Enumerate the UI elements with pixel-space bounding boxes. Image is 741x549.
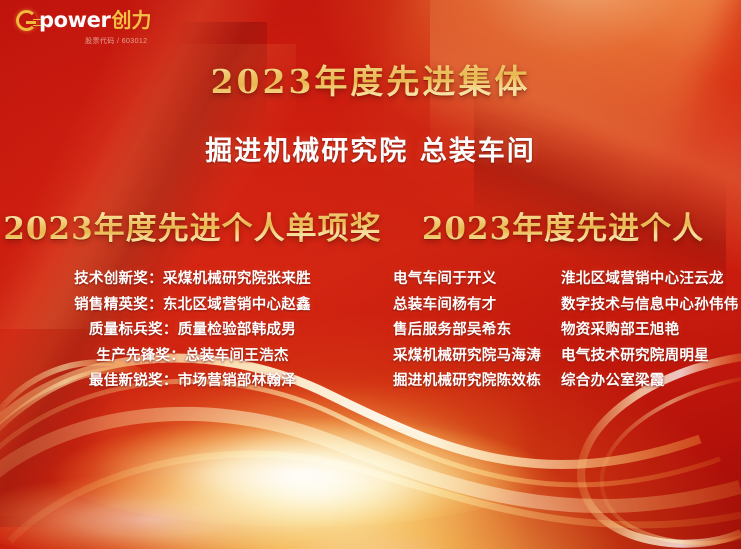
section-individual-special-awards: 2023年度先进个人单项奖 技术创新奖：采煤机械研究院张来胜 销售精英奖：东北区… [0,212,385,392]
section-advanced-individuals: 2023年度先进个人 电气车间于开义 淮北区域营销中心汪云龙 总装车间杨有才 数… [385,212,741,392]
list-item: 最佳新锐奖：市场营销部林翰泽 [89,370,296,392]
list-item: 总装车间杨有才 数字技术与信息中心孙伟伟 [393,294,741,316]
recipient-left: 掘进机械研究院陈效栋 [393,370,561,392]
section-heading: 2023年度先进个人单项奖 [0,212,385,246]
recipient-right: 数字技术与信息中心孙伟伟 [561,294,741,316]
center-glow-decoration [101,389,521,549]
award-sections: 2023年度先进个人单项奖 技术创新奖：采煤机械研究院张来胜 销售精英奖：东北区… [0,212,741,392]
recipient-right: 物资采购部王旭艳 [561,319,741,341]
recipient-left: 电气车间于开义 [393,268,561,290]
section-heading: 2023年度先进个人 [385,212,741,246]
award-list: 技术创新奖：采煤机械研究院张来胜 销售精英奖：东北区域营销中心赵鑫 质量标兵奖：… [0,268,385,392]
recipient-left: 售后服务部吴希东 [393,319,561,341]
list-item: 生产先锋奖：总装车间王浩杰 [96,345,288,367]
page-subtitle: 掘进机械研究院 总装车间 [0,137,741,167]
list-item: 采煤机械研究院马海涛 电气技术研究院周明星 [393,345,741,367]
list-item: 质量标兵奖：质量检验部韩成男 [89,319,296,341]
logo-row: power 创力 [16,10,151,31]
list-item: 技术创新奖：采煤机械研究院张来胜 [74,268,311,290]
list-item: 销售精英奖：东北区域营销中心赵鑫 [74,294,311,316]
list-item: 售后服务部吴希东 物资采购部王旭艳 [393,319,741,341]
list-item: 掘进机械研究院陈效栋 综合办公室梁霞 [393,370,741,392]
recipient-right: 淮北区域营销中心汪云龙 [561,268,741,290]
recipient-right: 综合办公室梁霞 [561,370,741,392]
stock-code-label: 股票代码 / 603012 [16,36,151,46]
award-slide: power 创力 股票代码 / 603012 2023年度先进集体 掘进机械研究… [0,0,741,549]
recipient-left: 总装车间杨有才 [393,294,561,316]
list-item: 电气车间于开义 淮北区域营销中心汪云龙 [393,268,741,290]
brand-name-en: power [39,10,110,31]
recipient-left: 采煤机械研究院马海涛 [393,345,561,367]
page-title: 2023年度先进集体 [0,64,741,100]
brand-logo: power 创力 股票代码 / 603012 [16,10,151,46]
recipient-right: 电气技术研究院周明星 [561,345,741,367]
circular-arrow-mark-icon [16,10,37,31]
brand-name-cn: 创力 [111,11,151,31]
recipient-list: 电气车间于开义 淮北区域营销中心汪云龙 总装车间杨有才 数字技术与信息中心孙伟伟… [385,268,741,392]
